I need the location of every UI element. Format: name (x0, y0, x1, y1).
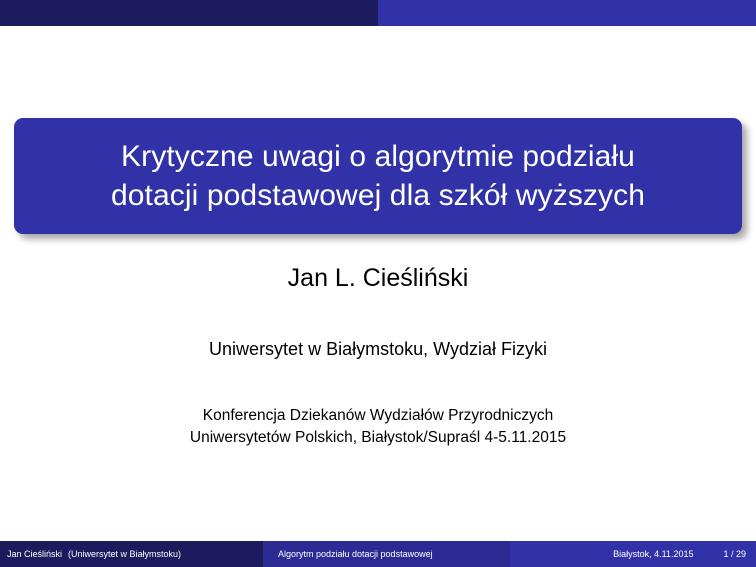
footer-title-segment: Algorytm podziału dotacji podstawowej (263, 541, 510, 567)
footer-page-number: 1 / 29 (693, 549, 746, 559)
top-bar-right-segment (378, 0, 756, 26)
footer-date: Białystok, 4.11.2015 (613, 549, 693, 559)
footer-author-affiliation: (Uniwersytet w Białymstoku) (62, 549, 181, 559)
conference-info: Konferencja Dziekanów Wydziałów Przyrodn… (0, 361, 756, 449)
top-bar-left-segment (0, 0, 378, 26)
footer-author-name: Jan Cieśliński (7, 549, 62, 559)
slide-footer-bar: Jan Cieśliński (Uniwersytet w Białymstok… (0, 541, 756, 567)
author-affiliation: Uniwersytet w Białymstoku, Wydział Fizyk… (0, 294, 756, 361)
author-name: Jan L. Cieśliński (0, 262, 756, 294)
title-block: Krytyczne uwagi o algorytmie podziału do… (14, 118, 742, 234)
footer-author-segment: Jan Cieśliński (Uniwersytet w Białymstok… (0, 541, 263, 567)
page-title-line-1: Krytyczne uwagi o algorytmie podziału (121, 137, 635, 176)
presentation-metadata: Jan L. Cieśliński Uniwersytet w Białymst… (0, 262, 756, 449)
page-title-line-2: dotacji podstawowej dla szkół wyższych (111, 176, 645, 215)
footer-date-page-segment: Białystok, 4.11.2015 1 / 29 (510, 541, 756, 567)
footer-short-title: Algorytm podziału dotacji podstawowej (278, 549, 433, 559)
top-decoration-bar (0, 0, 756, 26)
conference-line-1: Konferencja Dziekanów Wydziałów Przyrodn… (0, 405, 756, 427)
title-box: Krytyczne uwagi o algorytmie podziału do… (14, 118, 742, 234)
conference-line-2: Uniwersytetów Polskich, Białystok/Supraś… (0, 427, 756, 449)
